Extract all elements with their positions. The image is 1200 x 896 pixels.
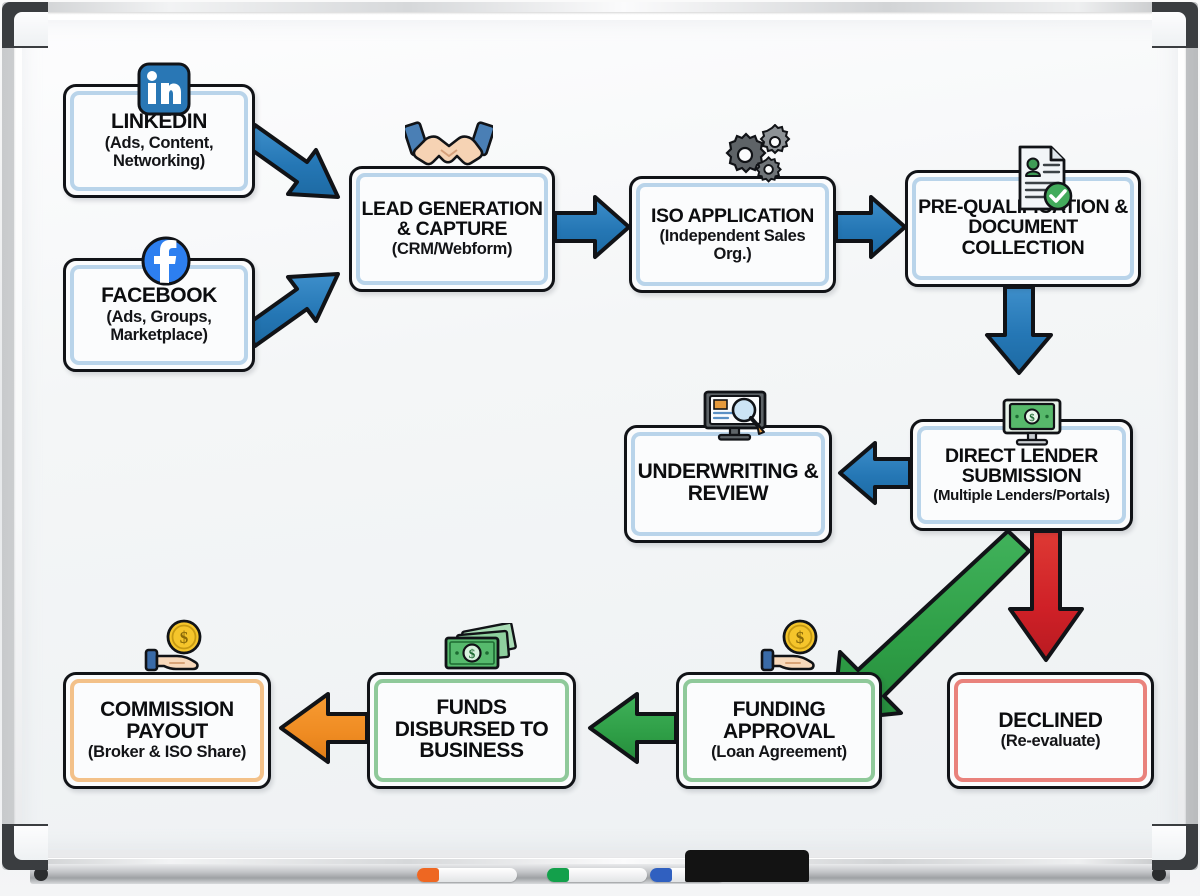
whiteboard: $: [0, 0, 1200, 896]
node-commission-payout[interactable]: COMMISSION PAYOUT (Broker & ISO Share): [63, 672, 271, 789]
node-title: LINKEDIN: [111, 111, 207, 133]
node-facebook[interactable]: FACEBOOK (Ads, Groups, Marketplace): [63, 258, 255, 372]
orange-marker-cap: [417, 868, 439, 882]
node-title: COMMISSION PAYOUT: [74, 699, 260, 742]
node-subtitle: (Independent Sales Org.): [640, 228, 825, 264]
green-marker-cap: [547, 868, 569, 882]
node-subtitle: (Ads, Groups, Marketplace): [74, 309, 244, 345]
arrow-iso-to-prequal: [836, 197, 905, 257]
node-title: DECLINED: [998, 710, 1102, 732]
node-pre-qualification[interactable]: PRE-QUALIFICATION & DOCUMENT COLLECTION: [905, 170, 1141, 287]
frame-corner-top-left: [2, 2, 48, 48]
node-title: FUNDING APPROVAL: [687, 699, 871, 742]
green-marker[interactable]: [547, 868, 647, 882]
node-linkedin[interactable]: LINKEDIN (Ads, Content, Networking): [63, 84, 255, 198]
node-title: ISO APPLICATION: [651, 206, 814, 226]
node-lead-generation[interactable]: LEAD GENERATION & CAPTURE (CRM/Webform): [349, 166, 555, 292]
node-underwriting-review[interactable]: UNDERWRITING & REVIEW: [624, 425, 832, 543]
node-title: UNDERWRITING & REVIEW: [635, 461, 821, 504]
node-subtitle: (Loan Agreement): [711, 744, 847, 762]
node-title: FUNDS DISBURSED TO BUSINESS: [378, 697, 565, 762]
node-title: DIRECT LENDER SUBMISSION: [921, 446, 1122, 486]
node-subtitle: (Multiple Lenders/Portals): [933, 488, 1109, 504]
node-title: PRE-QUALIFICATION & DOCUMENT COLLECTION: [916, 197, 1130, 257]
arrow-lender-to-underwriting: [840, 443, 910, 503]
node-title: FACEBOOK: [101, 285, 217, 307]
orange-marker[interactable]: [417, 868, 517, 882]
node-iso-application[interactable]: ISO APPLICATION (Independent Sales Org.): [629, 176, 836, 293]
arrow-approval-to-disbursed: [590, 694, 676, 762]
arrow-disbursed-to-commission: [281, 694, 367, 762]
arrow-lead-to-iso: [555, 197, 629, 257]
node-subtitle: (CRM/Webform): [392, 241, 512, 259]
blue-marker-cap: [650, 868, 672, 882]
node-subtitle: (Re-evaluate): [1001, 733, 1101, 751]
whiteboard-surface: $: [22, 20, 1178, 850]
arrow-prequal-to-lender: [987, 287, 1051, 373]
node-funds-disbursed[interactable]: FUNDS DISBURSED TO BUSINESS: [367, 672, 576, 789]
node-declined[interactable]: DECLINED (Re-evaluate): [947, 672, 1154, 789]
arrow-facebook-to-lead: [245, 274, 338, 346]
frame-corner-top-right: [1152, 2, 1198, 48]
frame-corner-bottom-left: [2, 824, 48, 870]
node-title: LEAD GENERATION & CAPTURE: [360, 199, 544, 239]
node-funding-approval[interactable]: FUNDING APPROVAL (Loan Agreement): [676, 672, 882, 789]
eraser[interactable]: [685, 850, 809, 882]
node-direct-lender-submission[interactable]: DIRECT LENDER SUBMISSION (Multiple Lende…: [910, 419, 1133, 531]
node-subtitle: (Broker & ISO Share): [88, 744, 246, 762]
arrow-linkedin-to-lead: [245, 125, 338, 197]
node-subtitle: (Ads, Content, Networking): [74, 135, 244, 171]
frame-corner-bottom-right: [1152, 824, 1198, 870]
